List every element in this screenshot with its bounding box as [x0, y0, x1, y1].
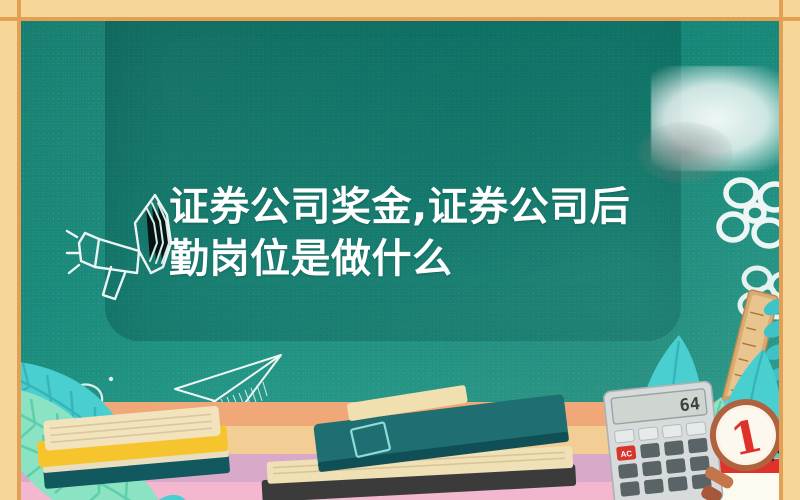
title-line-2: 勤岗位是做什么	[169, 236, 453, 282]
book-stack-left	[29, 403, 244, 498]
chalkboard: 证券公司奖金,证券公司后 勤岗位是做什么	[21, 21, 779, 500]
flower-icon	[711, 171, 779, 257]
title-line-1: 证券公司奖金,证券公司后	[169, 184, 630, 230]
calculator-clear-key: AC	[620, 449, 633, 459]
poster-canvas: 证券公司奖金,证券公司后 勤岗位是做什么	[0, 0, 800, 500]
magnifying-glass: 1	[693, 396, 779, 500]
page-title: 证券公司奖金,证券公司后 勤岗位是做什么	[169, 181, 669, 285]
book-stack-center	[253, 396, 583, 500]
frame-stripe-right	[779, 0, 783, 500]
